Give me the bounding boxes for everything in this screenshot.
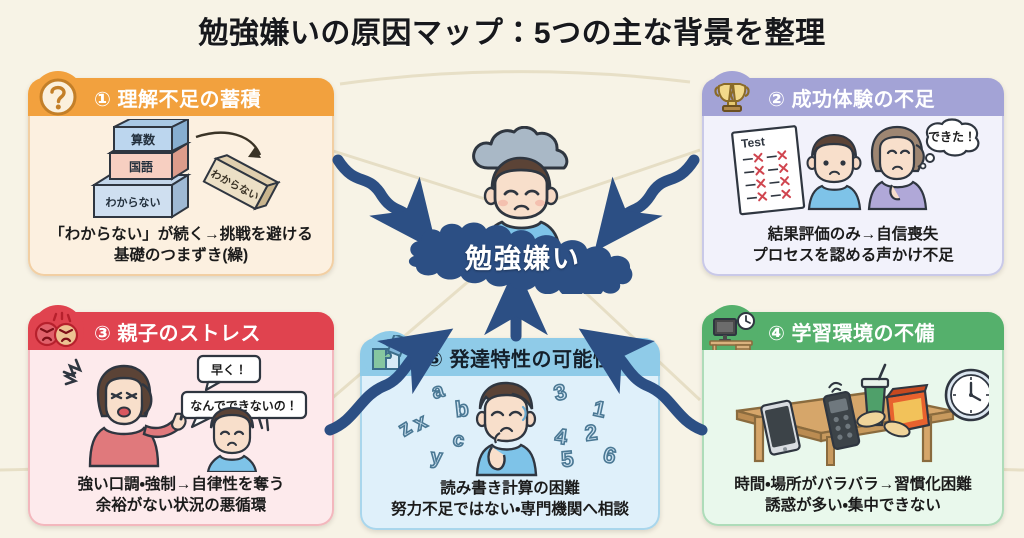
card5-header: ⑤ 発達特性の可能性 (360, 338, 660, 376)
card5-caption: 読み書き計算の困難 努力不足ではない・専門機関へ相談 (385, 479, 635, 520)
block-label-sansuu: 算数 (131, 132, 156, 147)
number-1: 1 (591, 396, 608, 423)
infographic-canvas: 勉強嫌いの原因マップ：5つの主な背景を整理 (0, 0, 1024, 538)
number-3: 3 (551, 379, 569, 406)
card5-art: a b c x y z 1 2 3 4 5 6 (362, 375, 658, 479)
card3-caption: 強い口調・強制→自律性を奪う 余裕がない状況の悪循環 (72, 475, 291, 516)
speech-bubble-hayaku: 早く！ (211, 363, 247, 377)
card2-caption-line1: 結果評価のみ→自信喪失 (752, 225, 954, 245)
number-5: 5 (560, 446, 575, 472)
card5-title: ⑤ 発達特性の可能性 (426, 343, 614, 372)
cause-card-3[interactable]: ③ 親子のストレス (28, 312, 334, 526)
card3-title: ③ 親子のストレス (94, 317, 261, 346)
card3-caption-line2: 余裕がない状況の悪循環 (78, 496, 285, 516)
number-2: 2 (583, 420, 599, 446)
cause-card-4[interactable]: ④ 学習環境の不備 (702, 312, 1004, 526)
card1-caption: 「わからない」が続く→挑戦を避ける 基礎のつまずき(繰) (43, 225, 319, 266)
card3-header: ③ 親子のストレス (28, 312, 334, 350)
page-title: 勉強嫌いの原因マップ：5つの主な背景を整理 (0, 8, 1024, 52)
card1-body: わからない 国語 算数 わからない (28, 116, 334, 276)
card2-art: Test (704, 113, 1002, 225)
card1-header: ① 理解不足の蓄積 (28, 78, 334, 116)
card2-title: ② 成功体験の不足 (768, 83, 935, 112)
stacked-blocks-icon: わからない 国語 算数 わからない (76, 119, 286, 223)
card1-title: ① 理解不足の蓄積 (94, 83, 261, 112)
letter-c: c (451, 428, 466, 452)
cause-card-2[interactable]: ② 成功体験の不足 Test (702, 78, 1004, 276)
cause-card-1[interactable]: ① 理解不足の蓄積 わからない 国語 (28, 78, 334, 276)
letter-y: y (429, 445, 443, 469)
number-6: 6 (601, 442, 619, 469)
center-node: 勉強嫌い (398, 108, 648, 298)
card4-art (704, 350, 1002, 475)
card5-body: a b c x y z 1 2 3 4 5 6 (360, 376, 660, 530)
scolding-parent-and-child-icon: 早く！ なんでできないの！ (46, 354, 316, 472)
card2-caption-line2: プロセスを認める声かけ不足 (752, 246, 954, 266)
letter-a: a (429, 378, 447, 403)
card4-caption-line1: 時間・場所がバラバラ→習慣化困難 (734, 475, 972, 495)
card3-body: 早く！ なんでできないの！ (28, 350, 334, 526)
letter-b: b (454, 396, 470, 422)
card4-caption: 時間・場所がバラバラ→習慣化困難 誘惑が多い・集中できない (728, 475, 978, 516)
card5-caption-line2: 努力不足ではない・専門機関へ相談 (391, 500, 629, 520)
block-label-kokugo: 国語 (129, 160, 153, 174)
block-label-wakaranai: わからない (106, 196, 161, 209)
card3-art: 早く！ なんでできないの！ (30, 350, 332, 475)
confused-boy-with-floating-letters-icon: a b c x y z 1 2 3 4 5 6 (378, 375, 642, 479)
messy-desk-with-distractions-icon (717, 353, 989, 473)
thought-bubble-text: できた！ (928, 130, 976, 144)
card2-caption: 結果評価のみ→自信喪失 プロセスを認める声かけ不足 (746, 225, 960, 266)
card3-caption-line1: 強い口調・強制→自律性を奪う (78, 475, 285, 495)
card1-caption-line2: 基礎のつまずき(繰) (49, 246, 313, 266)
test-paper-label: Test (740, 135, 765, 151)
card1-art: わからない 国語 算数 わからない (30, 116, 332, 225)
card2-header: ② 成功体験の不足 (702, 78, 1004, 116)
card4-title: ④ 学習環境の不備 (768, 317, 935, 346)
cause-card-5[interactable]: ⑤ 発達特性の可能性 a b c x y z 1 2 3 4 (360, 338, 660, 530)
card4-header: ④ 学習環境の不備 (702, 312, 1004, 350)
card2-body: Test (702, 116, 1004, 276)
test-paper-boy-and-mother-icon: Test (722, 113, 984, 225)
center-label: 勉強嫌い (398, 218, 648, 294)
card4-body: 時間・場所がバラバラ→習慣化困難 誘惑が多い・集中できない (702, 350, 1004, 526)
card4-caption-line2: 誘惑が多い・集中できない (734, 496, 972, 516)
card1-caption-line1: 「わからない」が続く→挑戦を避ける (49, 225, 313, 245)
card5-caption-line1: 読み書き計算の困難 (391, 479, 629, 499)
